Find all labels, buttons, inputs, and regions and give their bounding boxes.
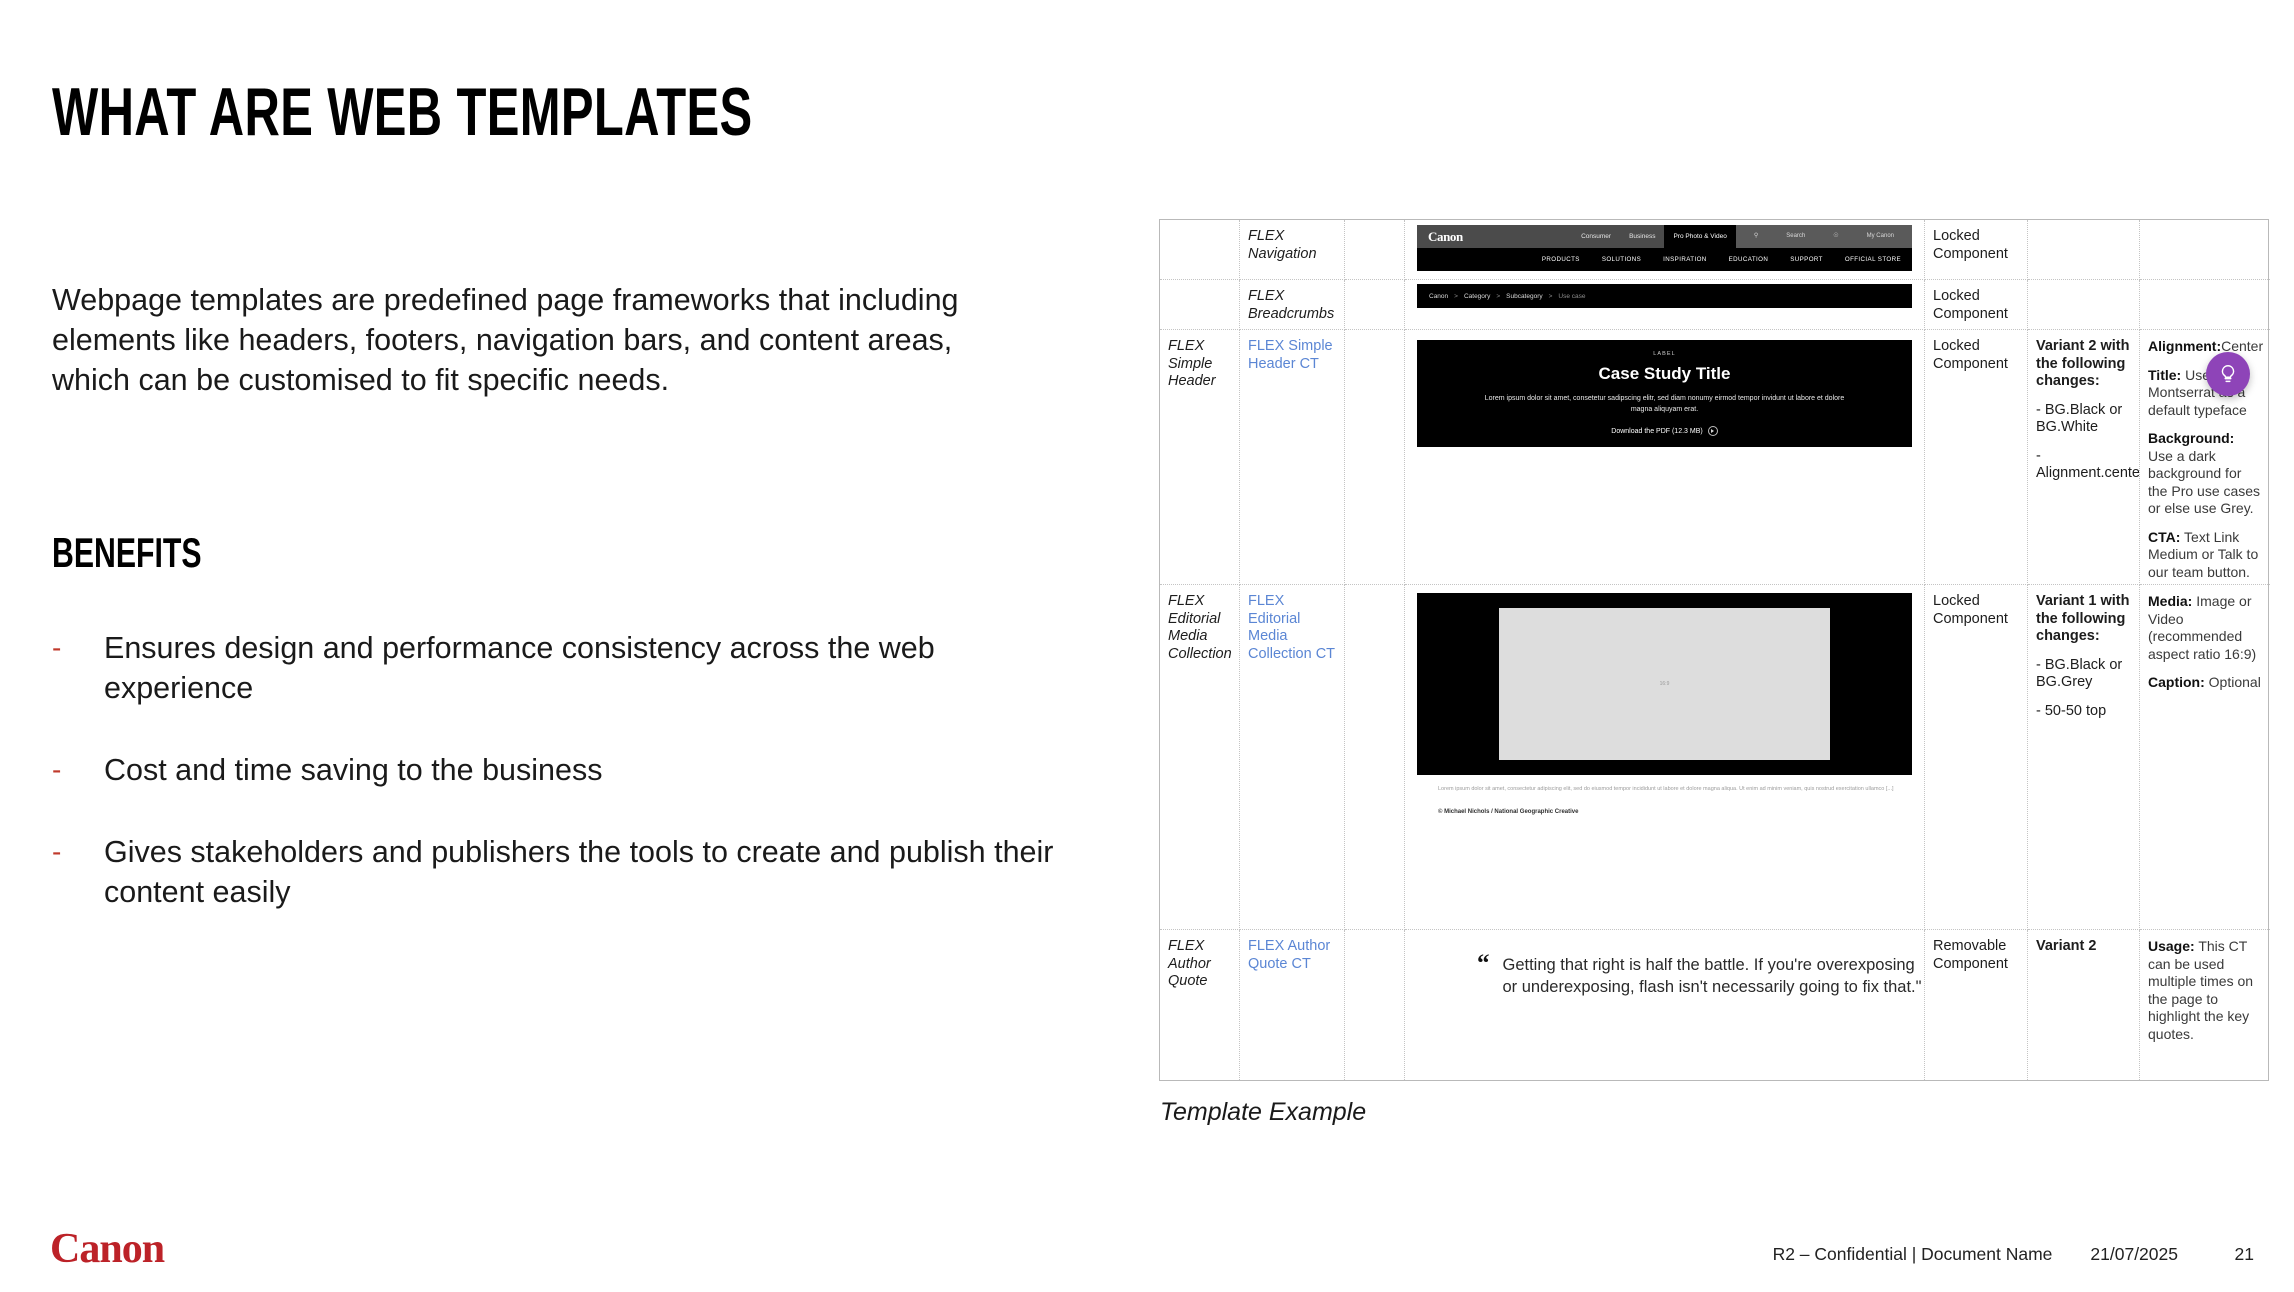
table-cell-lock-status: Removable Component xyxy=(1925,930,2028,1080)
table-cell-spec: Alignment:Center Title: Use H1 Montserra… xyxy=(2140,330,2270,585)
spec-entry: Usage: This CT can be used multiple time… xyxy=(2148,938,2263,1043)
footer-confidentiality-label: R2 – Confidential | Document Name xyxy=(1773,1244,2053,1265)
spec-label: Background: xyxy=(2148,430,2234,446)
canon-nav-mock: Canon Consumer Business Pro Photo & Vide… xyxy=(1417,225,1912,271)
breadcrumb-item-category[interactable]: Category xyxy=(1464,293,1490,300)
canon-logo-icon: Canon xyxy=(1428,229,1463,245)
quote-mark-icon: “ xyxy=(1477,954,1490,998)
arrow-right-circle-icon[interactable] xyxy=(1708,426,1718,436)
table-cell-spec: Usage: This CT can be used multiple time… xyxy=(2140,930,2270,1080)
nav-item-official-store[interactable]: OFFICIAL STORE xyxy=(1834,256,1912,263)
lightbulb-icon xyxy=(2217,363,2239,385)
footer-date: 21/07/2025 xyxy=(2090,1244,2178,1265)
variant-line: - 50-50 top xyxy=(2036,703,2132,721)
table-cell-component-ct: FLEX Breadcrumbs xyxy=(1240,280,1345,330)
list-item: - Ensures design and performance consist… xyxy=(52,628,1072,708)
spec-label: Usage: xyxy=(2148,938,2195,954)
table-cell-lock-status: Locked Component xyxy=(1925,330,2028,585)
search-icon[interactable]: ⚲ xyxy=(1745,225,1767,248)
preview-breadcrumbs: Canon > Category > Subcategory > Use cas… xyxy=(1405,280,1925,330)
component-ct-link[interactable]: FLEX Author Quote CT xyxy=(1248,938,1337,973)
quote-text: Getting that right is half the battle. I… xyxy=(1503,954,1925,998)
spec-block: Media: Image or Video (recommended aspec… xyxy=(2148,593,2263,692)
lock-status-label: Removable Component xyxy=(1933,938,2020,973)
table-cell-component-name xyxy=(1160,220,1240,280)
breadcrumb-item-canon[interactable]: Canon xyxy=(1429,293,1448,300)
spec-entry: CTA: Text Link Medium or Talk to our tea… xyxy=(2148,529,2263,582)
table-cell-component-ct: FLEX Author Quote CT xyxy=(1240,930,1345,1080)
lock-status-label: Locked Component xyxy=(1933,338,2020,373)
breadcrumb-item-current: Use case xyxy=(1558,293,1585,300)
spec-label: Alignment: xyxy=(2148,338,2221,354)
component-name-label: FLEX Editorial Media Collection xyxy=(1168,593,1232,663)
nav-item-products[interactable]: PRODUCTS xyxy=(1531,256,1591,263)
media-credit: © Michael Nichols / National Geographic … xyxy=(1438,809,1578,815)
figure-caption: Template Example xyxy=(1160,1098,1366,1127)
spec-value: Optional xyxy=(2205,674,2261,690)
table-cell-spacer xyxy=(1345,280,1405,330)
nav-item-education[interactable]: EDUCATION xyxy=(1718,256,1780,263)
list-item: - Gives stakeholders and publishers the … xyxy=(52,832,1072,912)
nav-link-pro-photo-video[interactable]: Pro Photo & Video xyxy=(1664,225,1735,248)
nav-search-area[interactable]: ⚲ Search ☉ My Canon xyxy=(1736,225,1912,248)
table-cell-component-name: FLEX Simple Header xyxy=(1160,330,1240,585)
spec-entry: Background: Use a dark background for th… xyxy=(2148,430,2263,518)
variant-title: Variant 2 xyxy=(2036,938,2096,954)
hero-body-text: Lorem ipsum dolor sit amet, consetetur s… xyxy=(1475,393,1855,415)
table-cell-variant: Variant 2 with the following changes: - … xyxy=(2028,330,2140,585)
spec-label: CTA: xyxy=(2148,529,2180,545)
footer-meta: R2 – Confidential | Document Name 21/07/… xyxy=(1773,1244,2254,1265)
page-title: WHAT ARE WEB TEMPLATES xyxy=(52,78,753,146)
list-item-label: Ensures design and performance consisten… xyxy=(104,628,1072,708)
spec-label: Media: xyxy=(2148,593,2192,609)
variant-title: Variant 1 with the following changes: xyxy=(2036,593,2129,644)
intro-paragraph: Webpage templates are predefined page fr… xyxy=(52,280,982,400)
nav-item-inspiration[interactable]: INSPIRATION xyxy=(1652,256,1717,263)
table-cell-spacer xyxy=(1345,585,1405,930)
table-cell-spec xyxy=(2140,220,2270,280)
template-example-figure: FLEX Navigation Canon Consumer Business … xyxy=(1159,219,2269,1081)
table-cell-component-name xyxy=(1160,280,1240,330)
canon-logo: Canon xyxy=(50,1228,164,1270)
table-cell-component-name: FLEX Author Quote xyxy=(1160,930,1240,1080)
template-spec-table: FLEX Navigation Canon Consumer Business … xyxy=(1159,219,2269,1081)
lock-status-label: Locked Component xyxy=(1933,228,2020,263)
bullet-dash-icon: - xyxy=(52,832,104,872)
table-cell-spacer xyxy=(1345,930,1405,1080)
spec-entry: Alignment:Center xyxy=(2148,338,2263,356)
table-cell-variant: Variant 1 with the following changes: - … xyxy=(2028,585,2140,930)
variant-line: - BG.Black or BG.White xyxy=(2036,402,2132,437)
hero-label: LABEL xyxy=(1653,351,1676,357)
lock-status-label: Locked Component xyxy=(1933,288,2020,323)
component-ct-link[interactable]: FLEX Simple Header CT xyxy=(1248,338,1337,373)
table-cell-spec: Media: Image or Video (recommended aspec… xyxy=(2140,585,2270,930)
media-caption: Lorem ipsum dolor sit amet, consectetur … xyxy=(1438,785,1894,794)
account-icon[interactable]: ☉ xyxy=(1824,225,1847,248)
component-ct-label: FLEX Breadcrumbs xyxy=(1248,288,1337,323)
variant-block: Variant 1 with the following changes: - … xyxy=(2036,593,2132,720)
search-label[interactable]: Search xyxy=(1777,225,1814,248)
nav-item-support[interactable]: SUPPORT xyxy=(1779,256,1834,263)
nav-top-links: Consumer Business Pro Photo & Video ⚲ Se… xyxy=(1572,225,1912,248)
benefits-list: - Ensures design and performance consist… xyxy=(52,628,1072,954)
footer-page-number: 21 xyxy=(2228,1244,2254,1265)
preview-author-quote: “ Getting that right is half the battle.… xyxy=(1405,930,1925,1080)
breadcrumb-item-subcategory[interactable]: Subcategory xyxy=(1506,293,1543,300)
spec-label: Title: xyxy=(2148,367,2181,383)
component-name-label: FLEX Author Quote xyxy=(1168,938,1232,991)
preview-simple-header: LABEL Case Study Title Lorem ipsum dolor… xyxy=(1405,330,1925,585)
table-cell-component-ct: FLEX Editorial Media Collection CT xyxy=(1240,585,1345,930)
spec-label: Caption: xyxy=(2148,674,2205,690)
nav-link-business[interactable]: Business xyxy=(1620,225,1664,248)
account-label[interactable]: My Canon xyxy=(1858,225,1903,248)
image-placeholder: 16:9 xyxy=(1499,608,1831,761)
spec-value: Use a dark background for the Pro use ca… xyxy=(2148,448,2260,517)
nav-item-solutions[interactable]: SOLUTIONS xyxy=(1591,256,1652,263)
variant-title: Variant 2 with the following changes: xyxy=(2036,338,2129,389)
variant-block: Variant 2 with the following changes: - … xyxy=(2036,338,2132,483)
preview-navigation: Canon Consumer Business Pro Photo & Vide… xyxy=(1405,220,1925,280)
spec-block: Usage: This CT can be used multiple time… xyxy=(2148,938,2263,1043)
hero-cta-link[interactable]: Download the PDF (12.3 MB) xyxy=(1611,426,1717,436)
table-cell-lock-status: Locked Component xyxy=(1925,280,2028,330)
author-quote-mock: “ Getting that right is half the battle.… xyxy=(1477,954,1924,998)
nav-bottom-bar: PRODUCTS SOLUTIONS INSPIRATION EDUCATION… xyxy=(1417,248,1912,271)
lightbulb-hotspot-badge[interactable] xyxy=(2206,352,2250,396)
nav-top-bar: Canon Consumer Business Pro Photo & Vide… xyxy=(1417,225,1912,248)
chevron-right-icon: > xyxy=(1549,293,1553,300)
table-cell-spec xyxy=(2140,280,2270,330)
component-ct-link[interactable]: FLEX Editorial Media Collection CT xyxy=(1248,593,1337,663)
media-block-mock: 16:9 xyxy=(1417,593,1912,775)
list-item: - Cost and time saving to the business xyxy=(52,750,1072,790)
variant-block: Variant 2 xyxy=(2036,938,2132,956)
table-cell-component-ct: FLEX Navigation xyxy=(1240,220,1345,280)
variant-line: - BG.Black or BG.Grey xyxy=(2036,657,2132,692)
component-ct-label: FLEX Navigation xyxy=(1248,228,1337,263)
chevron-right-icon: > xyxy=(1496,293,1500,300)
breadcrumb: Canon > Category > Subcategory > Use cas… xyxy=(1417,284,1912,308)
list-item-label: Cost and time saving to the business xyxy=(104,750,1072,790)
component-name-label: FLEX Simple Header xyxy=(1168,338,1232,391)
preview-media-collection: 16:9 Lorem ipsum dolor sit amet, consect… xyxy=(1405,585,1925,930)
table-cell-spacer xyxy=(1345,220,1405,280)
table-cell-variant xyxy=(2028,220,2140,280)
table-cell-variant: Variant 2 xyxy=(2028,930,2140,1080)
bullet-dash-icon: - xyxy=(52,750,104,790)
case-study-hero-mock: LABEL Case Study Title Lorem ipsum dolor… xyxy=(1417,340,1912,447)
table-cell-lock-status: Locked Component xyxy=(1925,220,2028,280)
table-cell-lock-status: Locked Component xyxy=(1925,585,2028,930)
nav-link-consumer[interactable]: Consumer xyxy=(1572,225,1620,248)
table-cell-component-name: FLEX Editorial Media Collection xyxy=(1160,585,1240,930)
lock-status-label: Locked Component xyxy=(1933,593,2020,628)
table-cell-spacer xyxy=(1345,330,1405,585)
chevron-right-icon: > xyxy=(1454,293,1458,300)
spec-entry: Media: Image or Video (recommended aspec… xyxy=(2148,593,2263,663)
variant-line: - Alignment.center xyxy=(2036,448,2132,483)
table-cell-component-ct: FLEX Simple Header CT xyxy=(1240,330,1345,585)
table-cell-variant xyxy=(2028,280,2140,330)
bullet-dash-icon: - xyxy=(52,628,104,668)
spec-entry: Caption: Optional xyxy=(2148,674,2263,692)
list-item-label: Gives stakeholders and publishers the to… xyxy=(104,832,1072,912)
hero-title: Case Study Title xyxy=(1599,364,1731,384)
benefits-heading: BENEFITS xyxy=(52,532,202,574)
hero-cta-label[interactable]: Download the PDF (12.3 MB) xyxy=(1611,428,1702,435)
